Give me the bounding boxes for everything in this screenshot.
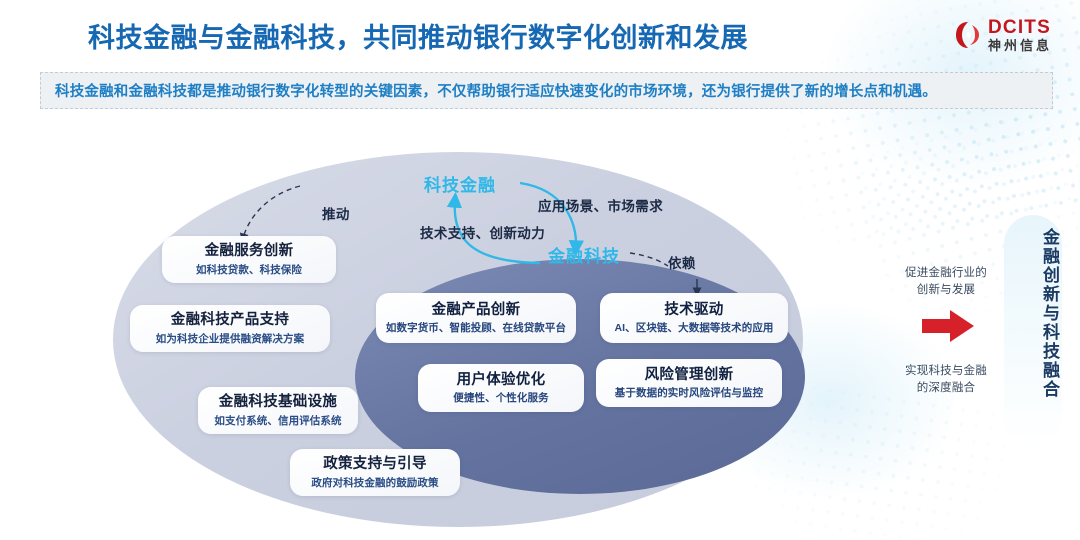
subtitle-banner: 科技金融和金融科技都是推动银行数字化转型的关键因素，不仅帮助银行适应快速变化的市… [40, 72, 1053, 109]
card-subtitle: 如数字货币、智能投顾、在线贷款平台 [386, 322, 566, 335]
right-panel-vertical-title: 金融创新与科技融合 [1008, 228, 1058, 399]
red-arrow-icon [920, 308, 976, 344]
label-keji-jinrong: 科技金融 [424, 171, 496, 196]
card-title: 风险管理创新 [645, 366, 734, 384]
card-policy-support[interactable]: 政策支持与引导 政府对科技金融的鼓励政策 [290, 449, 460, 496]
card-title: 用户体验优化 [457, 371, 546, 389]
card-title: 金融服务创新 [205, 242, 294, 260]
dcits-swirl-icon [955, 21, 981, 49]
card-title: 金融科技产品支持 [171, 311, 289, 329]
label-yilai: 依赖 [668, 252, 696, 272]
card-risk-management-innovation[interactable]: 风险管理创新 基于数据的实时风险评估与监控 [596, 359, 782, 407]
card-title: 技术驱动 [664, 301, 723, 319]
card-subtitle: 如为科技企业提供融资解决方案 [156, 333, 304, 346]
brand-logo: DCITS 神州信息 [955, 18, 1052, 52]
card-subtitle: AI、区块链、大数据等技术的应用 [614, 322, 773, 335]
logo-cn-text: 神州信息 [988, 39, 1052, 52]
card-fintech-infrastructure[interactable]: 金融科技基础设施 如支付系统、信用评估系统 [198, 387, 358, 434]
card-subtitle: 如科技贷款、科技保险 [196, 264, 302, 277]
slide-canvas: 科技金融与金融科技，共同推动银行数字化创新和发展 DCITS 神州信息 科技金融… [0, 0, 1080, 540]
card-fintech-product-support[interactable]: 金融科技产品支持 如为科技企业提供融资解决方案 [130, 305, 330, 352]
right-panel-note-top: 促进金融行业的创新与发展 [900, 265, 992, 298]
card-title: 金融科技基础设施 [219, 393, 337, 411]
card-title: 政策支持与引导 [323, 455, 427, 473]
label-yingyong-changjing: 应用场景、市场需求 [538, 195, 663, 215]
subtitle-text: 科技金融和金融科技都是推动银行数字化转型的关键因素，不仅帮助银行适应快速变化的市… [41, 80, 937, 101]
card-financial-product-innovation[interactable]: 金融产品创新 如数字货币、智能投顾、在线贷款平台 [376, 293, 576, 343]
logo-en-text: DCITS [988, 18, 1052, 37]
card-user-experience-optimization[interactable]: 用户体验优化 便捷性、个性化服务 [418, 364, 584, 412]
label-jinrong-keji: 金融科技 [548, 242, 620, 267]
logo-text-block: DCITS 神州信息 [988, 18, 1052, 52]
card-title: 金融产品创新 [432, 301, 521, 319]
card-financial-service-innovation[interactable]: 金融服务创新 如科技贷款、科技保险 [162, 236, 336, 283]
card-subtitle: 政府对科技金融的鼓励政策 [311, 477, 438, 490]
label-jishu-zhichi: 技术支持、创新动力 [420, 222, 545, 242]
card-subtitle: 基于数据的实时风险评估与监控 [615, 387, 763, 400]
card-technology-driven[interactable]: 技术驱动 AI、区块链、大数据等技术的应用 [600, 293, 788, 343]
page-title: 科技金融与金融科技，共同推动银行数字化创新和发展 [88, 16, 748, 55]
label-tuidong: 推动 [322, 203, 350, 223]
right-panel-note-bottom: 实现科技与金融的深度融合 [900, 363, 992, 396]
card-subtitle: 便捷性、个性化服务 [453, 392, 548, 405]
card-subtitle: 如支付系统、信用评估系统 [214, 415, 341, 428]
